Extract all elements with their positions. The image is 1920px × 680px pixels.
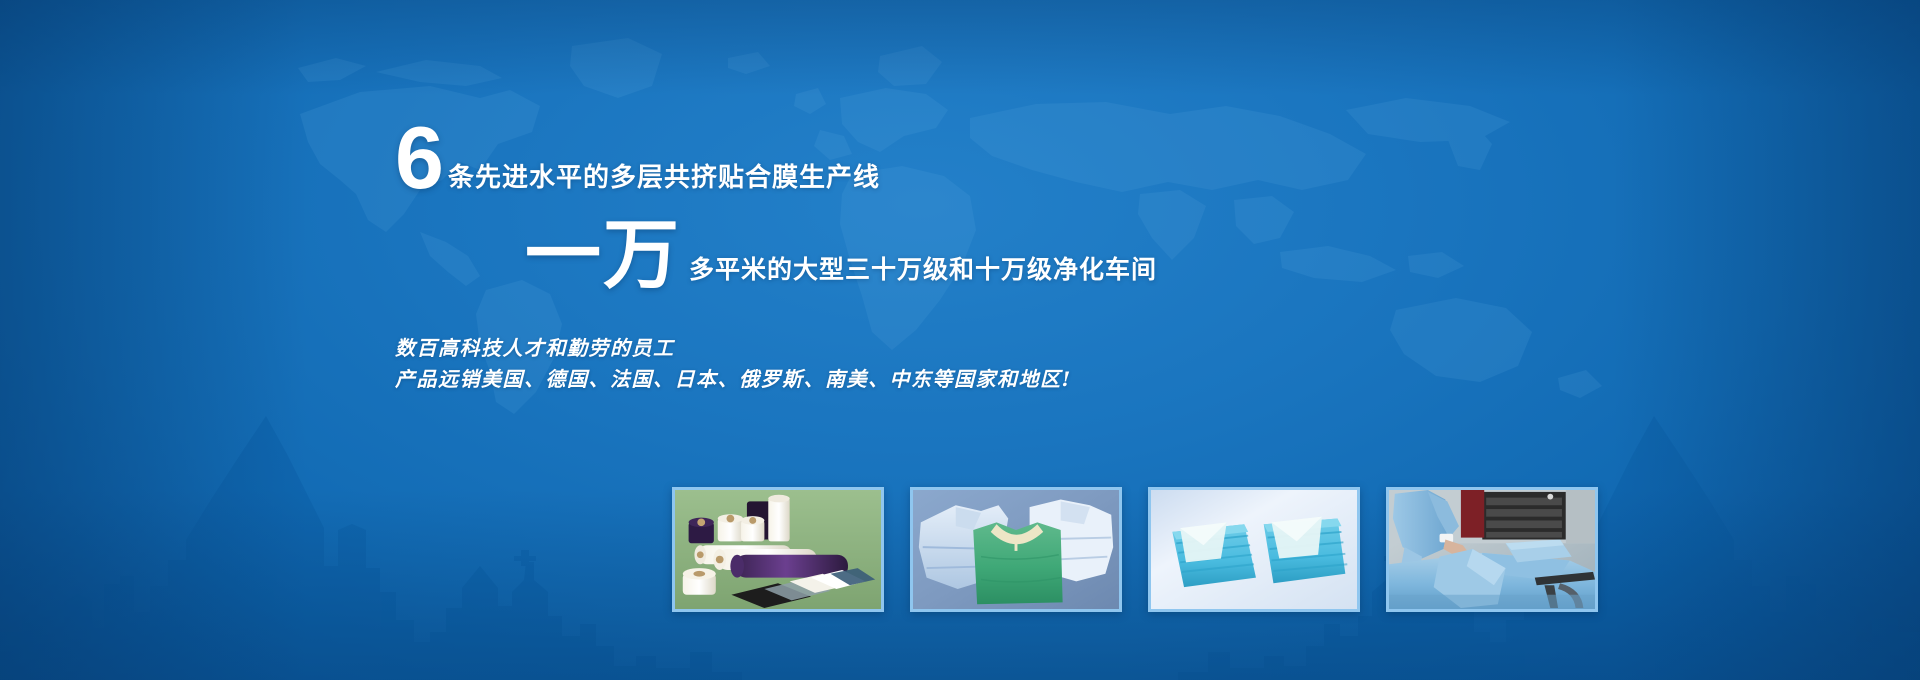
operating-table-photo bbox=[1389, 490, 1595, 609]
film-rolls-photo bbox=[675, 490, 881, 609]
thumbnail-surgical-gowns[interactable]: 手术衣 bbox=[910, 487, 1122, 612]
headline-2-rest: 多平米的大型三十万级和十万级净化车间 bbox=[689, 250, 1157, 286]
thumbnail-operating-table[interactable]: 手术台铺单 bbox=[1386, 487, 1598, 612]
subline-2: 产品远销美国、德国、法国、日本、俄罗斯、南美、中东等国家和地区! bbox=[395, 364, 1395, 395]
subline-1: 数百高科技人才和勤劳的员工 bbox=[395, 333, 1395, 364]
headline-row-1: 6 条先进水平的多层共挤贴合膜生产线 bbox=[395, 118, 1395, 199]
subline-group: 数百高科技人才和勤劳的员工 产品远销美国、德国、法国、日本、俄罗斯、南美、中东等… bbox=[395, 333, 1395, 395]
thumbnail-film-rolls[interactable]: 多层共挤贴合膜卷材 bbox=[672, 487, 884, 612]
marketing-copy: 6 条先进水平的多层共挤贴合膜生产线 一万 多平米的大型三十万级和十万级净化车间… bbox=[395, 118, 1395, 395]
surgical-drapes-photo bbox=[1151, 490, 1357, 609]
headline-1-rest: 条先进水平的多层共挤贴合膜生产线 bbox=[448, 157, 880, 194]
surgical-gowns-photo bbox=[913, 490, 1119, 609]
thumbnail-surgical-drapes[interactable]: 手术单 bbox=[1148, 487, 1360, 612]
headline-2-lead: 一万 bbox=[525, 219, 681, 291]
company-banner: 6 条先进水平的多层共挤贴合膜生产线 一万 多平米的大型三十万级和十万级净化车间… bbox=[0, 0, 1920, 680]
product-thumbnail-strip: 多层共挤贴合膜卷材 bbox=[672, 487, 1598, 612]
headline-row-2: 一万 多平米的大型三十万级和十万级净化车间 bbox=[525, 219, 1395, 291]
headline-1-lead: 6 bbox=[395, 118, 442, 199]
